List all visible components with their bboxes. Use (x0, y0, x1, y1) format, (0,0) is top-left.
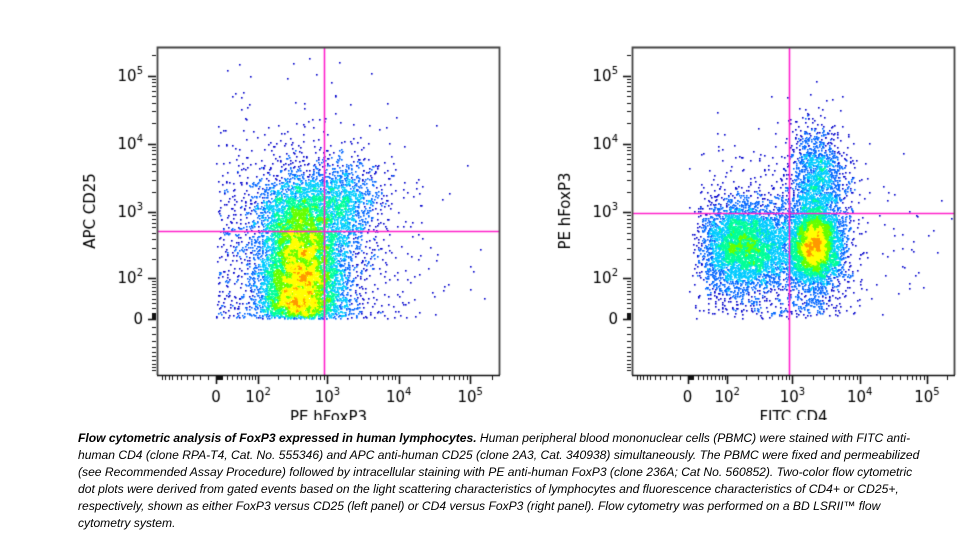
caption-lead: Flow cytometric analysis of FoxP3 expres… (78, 431, 477, 445)
flow-cytometry-figure (0, 0, 978, 420)
caption-body: Human peripheral blood mononuclear cells… (78, 431, 919, 530)
dot-plot-canvas (0, 0, 978, 420)
figure-caption: Flow cytometric analysis of FoxP3 expres… (78, 430, 930, 533)
